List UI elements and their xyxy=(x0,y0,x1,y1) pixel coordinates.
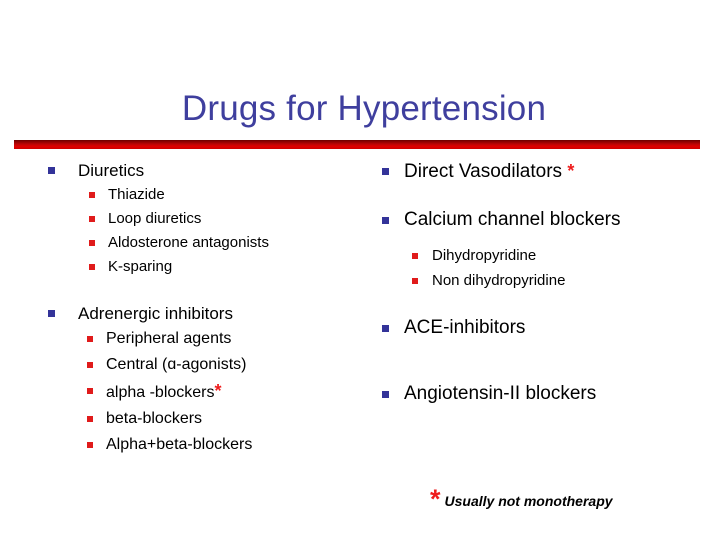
asterisk-marker-icon: * xyxy=(430,484,441,514)
spacer xyxy=(42,279,372,301)
square-bullet-icon xyxy=(89,264,95,270)
list-item-label: Thiazide xyxy=(108,183,372,207)
right-content-column: Direct Vasodilators * Calcium channel bl… xyxy=(376,158,722,407)
list-item-label: alpha -blockers* xyxy=(106,378,372,406)
left-content-column: Diuretics Thiazide Loop diuretics Aldost… xyxy=(42,158,372,458)
list-item-label: Calcium channel blockers xyxy=(404,207,722,233)
square-bullet-icon xyxy=(382,391,389,398)
list-item-adrenergic-inhibitors: Adrenergic inhibitors xyxy=(42,301,372,326)
list-item-direct-vasodilators: Direct Vasodilators * xyxy=(376,158,722,185)
square-bullet-icon xyxy=(89,240,95,246)
square-bullet-icon xyxy=(89,216,95,222)
list-item-alpha-plus-beta-blockers: Alpha+beta-blockers xyxy=(42,432,372,458)
list-item-label: ACE-inhibitors xyxy=(404,315,722,341)
asterisk-marker-icon: * xyxy=(567,161,574,181)
square-bullet-icon xyxy=(89,192,95,198)
slide-drugs-for-hypertension: { "slide": { "title": "Drugs for Hyperte… xyxy=(0,0,728,546)
square-bullet-icon xyxy=(87,416,93,422)
list-item-label: Diuretics xyxy=(78,158,372,183)
square-bullet-icon xyxy=(48,310,55,317)
list-item-angiotensin-ii-blockers: Angiotensin-II blockers xyxy=(376,381,722,407)
list-item-thiazide: Thiazide xyxy=(42,183,372,207)
list-item-diuretics: Diuretics xyxy=(42,158,372,183)
title-divider-bar xyxy=(14,140,700,149)
square-bullet-icon xyxy=(382,168,389,175)
list-item-label: beta-blockers xyxy=(106,406,372,432)
list-item-label: Loop diuretics xyxy=(108,207,372,231)
list-item-beta-blockers: beta-blockers xyxy=(42,406,372,432)
page-title: Drugs for Hypertension xyxy=(0,88,728,130)
list-item-label: Central (ɑ-agonists) xyxy=(106,352,372,378)
spacer xyxy=(376,341,722,363)
square-bullet-icon xyxy=(412,278,418,284)
list-item-label: K-sparing xyxy=(108,255,372,279)
square-bullet-icon xyxy=(87,362,93,368)
list-item-label: Adrenergic inhibitors xyxy=(78,301,372,326)
list-item-loop-diuretics: Loop diuretics xyxy=(42,207,372,231)
list-item-dihydropyridine: Dihydropyridine xyxy=(376,243,722,268)
square-bullet-icon xyxy=(382,217,389,224)
square-bullet-icon xyxy=(87,442,93,448)
list-item-label: Direct Vasodilators * xyxy=(404,158,722,185)
asterisk-marker-icon: * xyxy=(215,381,222,401)
list-item-ace-inhibitors: ACE-inhibitors xyxy=(376,315,722,341)
list-item-label: Alpha+beta-blockers xyxy=(106,432,372,458)
square-bullet-icon xyxy=(382,325,389,332)
list-item-aldosterone-antagonists: Aldosterone antagonists xyxy=(42,231,372,255)
list-item-label: Aldosterone antagonists xyxy=(108,231,372,255)
list-item-label: Dihydropyridine xyxy=(432,243,722,268)
square-bullet-icon xyxy=(87,336,93,342)
footnote: *Usually not monotherapy xyxy=(430,484,720,515)
list-item-label: Angiotensin-II blockers xyxy=(404,381,722,407)
list-item-k-sparing: K-sparing xyxy=(42,255,372,279)
square-bullet-icon xyxy=(48,167,55,174)
spacer xyxy=(376,233,722,243)
list-item-text: alpha -blockers xyxy=(106,384,215,401)
spacer xyxy=(376,293,722,315)
spacer xyxy=(376,185,722,207)
footnote-text: Usually not monotherapy xyxy=(445,493,613,509)
spacer xyxy=(376,363,722,381)
list-item-label: Peripheral agents xyxy=(106,326,372,352)
list-item-peripheral-agents: Peripheral agents xyxy=(42,326,372,352)
list-item-non-dihydropyridine: Non dihydropyridine xyxy=(376,268,722,293)
list-item-calcium-channel-blockers: Calcium channel blockers xyxy=(376,207,722,233)
list-item-text: Direct Vasodilators xyxy=(404,161,562,182)
list-item-central-alpha-agonists: Central (ɑ-agonists) xyxy=(42,352,372,378)
list-item-label: Non dihydropyridine xyxy=(432,268,722,293)
list-item-alpha-blockers: alpha -blockers* xyxy=(42,378,372,406)
square-bullet-icon xyxy=(412,253,418,259)
square-bullet-icon xyxy=(87,388,93,394)
